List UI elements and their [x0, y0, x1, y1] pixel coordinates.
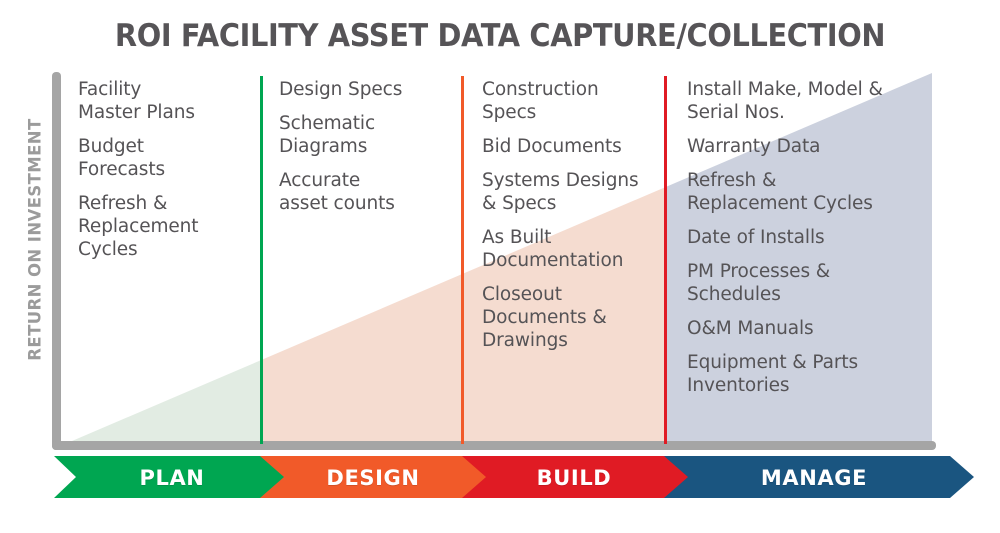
list-item: FacilityMaster Plans [78, 78, 258, 124]
list-item: O&M Manuals [687, 317, 929, 340]
phase-label-build[interactable]: BUILD [474, 464, 674, 494]
list-item: ConstructionSpecs [482, 78, 662, 124]
column-build: ConstructionSpecsBid DocumentsSystems De… [482, 78, 662, 363]
y-axis-line [52, 72, 61, 450]
divider-build [664, 76, 667, 444]
column-design: Design SpecsSchematicDiagramsAccurateass… [279, 78, 459, 226]
list-item: Install Make, Model &Serial Nos. [687, 78, 929, 124]
phase-label-plan[interactable]: PLAN [72, 464, 272, 494]
list-item: Design Specs [279, 78, 459, 101]
list-item: Equipment & PartsInventories [687, 351, 929, 397]
y-axis-label: RETURN ON INVESTMENT [26, 60, 45, 420]
column-plan: FacilityMaster PlansBudgetForecastsRefre… [78, 78, 258, 272]
list-item: Accurateasset counts [279, 169, 459, 215]
page-title: ROI FACILITY ASSET DATA CAPTURE/COLLECTI… [35, 18, 965, 54]
divider-plan [260, 76, 263, 444]
list-item: Refresh &Replacement Cycles [687, 169, 929, 215]
list-item: Refresh &ReplacementCycles [78, 192, 258, 261]
list-item: Bid Documents [482, 135, 662, 158]
phase-label-design[interactable]: DESIGN [273, 464, 473, 494]
x-axis-line [52, 441, 936, 450]
list-item: CloseoutDocuments &Drawings [482, 283, 662, 352]
list-item: SchematicDiagrams [279, 112, 459, 158]
list-item: PM Processes &Schedules [687, 260, 929, 306]
list-item: Warranty Data [687, 135, 929, 158]
phase-label-manage[interactable]: MANAGE [700, 464, 928, 494]
list-item: Date of Installs [687, 226, 929, 249]
list-item: As BuiltDocumentation [482, 226, 662, 272]
column-manage: Install Make, Model &Serial Nos.Warranty… [687, 78, 929, 408]
infographic-canvas: ROI FACILITY ASSET DATA CAPTURE/COLLECTI… [0, 0, 1000, 533]
list-item: Systems Designs& Specs [482, 169, 662, 215]
divider-design [461, 76, 464, 444]
list-item: BudgetForecasts [78, 135, 258, 181]
